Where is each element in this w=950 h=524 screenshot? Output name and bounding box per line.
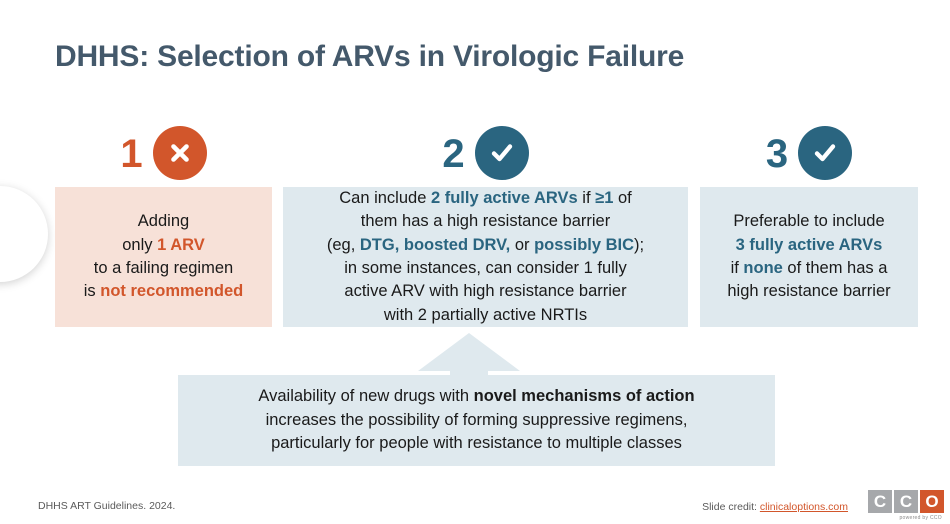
text-line: with 2 partially active NRTIs <box>327 304 644 327</box>
slide-credit-prefix: Slide credit: <box>702 501 760 513</box>
column-3-box: Preferable to include3 fully active ARVs… <box>700 187 918 327</box>
text-line: Availability of new drugs with novel mec… <box>258 385 694 409</box>
cco-logo-cells: C C O <box>854 490 944 513</box>
cco-cell-c1: C <box>868 490 892 513</box>
text-line: (eg, DTG, boosted DRV, or possibly BIC); <box>327 234 644 257</box>
text-line: in some instances, can consider 1 fully <box>327 257 644 280</box>
cco-cell-o: O <box>920 490 944 513</box>
text-line: increases the possibility of forming sup… <box>258 409 694 433</box>
up-arrow-icon <box>410 331 528 379</box>
text-line: Preferable to include <box>727 210 890 233</box>
text-line: only 1 ARV <box>84 234 244 257</box>
column-1-text: Addingonly 1 ARVto a failing regimenis n… <box>84 210 244 304</box>
check-mark-icon <box>475 126 529 180</box>
callout-box: Availability of new drugs with novel mec… <box>178 375 775 466</box>
footer-reference: DHHS ART Guidelines. 2024. <box>38 500 175 512</box>
text-line: active ARV with high resistance barrier <box>327 280 644 303</box>
column-3-text: Preferable to include3 fully active ARVs… <box>727 210 890 304</box>
column-1-header: 1 <box>55 122 272 184</box>
slide-credit: Slide credit: clinicaloptions.com <box>702 501 848 513</box>
x-mark-icon <box>153 126 207 180</box>
clinicaloptions-link[interactable]: clinicaloptions.com <box>760 501 848 513</box>
column-1-number: 1 <box>120 134 142 174</box>
cco-logo-tagline: powered by CCO <box>854 515 944 521</box>
callout-text: Availability of new drugs with novel mec… <box>258 385 694 457</box>
text-line: is not recommended <box>84 280 244 303</box>
edge-control-button[interactable] <box>0 186 48 282</box>
text-line: Can include 2 fully active ARVs if ≥1 of <box>327 187 644 210</box>
check-mark-icon <box>798 126 852 180</box>
column-2-header: 2 <box>283 122 688 184</box>
column-3-header: 3 <box>700 122 918 184</box>
column-1-box: Addingonly 1 ARVto a failing regimenis n… <box>55 187 272 327</box>
slide-canvas: DHHS: Selection of ARVs in Virologic Fai… <box>0 0 950 524</box>
column-3-number: 3 <box>766 134 788 174</box>
column-2-box: Can include 2 fully active ARVs if ≥1 of… <box>283 187 688 327</box>
text-line: them has a high resistance barrier <box>327 210 644 233</box>
text-line: if none of them has a <box>727 257 890 280</box>
text-line: Adding <box>84 210 244 233</box>
text-line: to a failing regimen <box>84 257 244 280</box>
column-2-number: 2 <box>442 134 464 174</box>
text-line: particularly for people with resistance … <box>258 432 694 456</box>
text-line: high resistance barrier <box>727 280 890 303</box>
page-title: DHHS: Selection of ARVs in Virologic Fai… <box>55 40 684 74</box>
cco-cell-c2: C <box>894 490 918 513</box>
column-2-text: Can include 2 fully active ARVs if ≥1 of… <box>327 187 644 328</box>
cco-logo: C C O powered by CCO <box>854 490 944 521</box>
text-line: 3 fully active ARVs <box>727 234 890 257</box>
